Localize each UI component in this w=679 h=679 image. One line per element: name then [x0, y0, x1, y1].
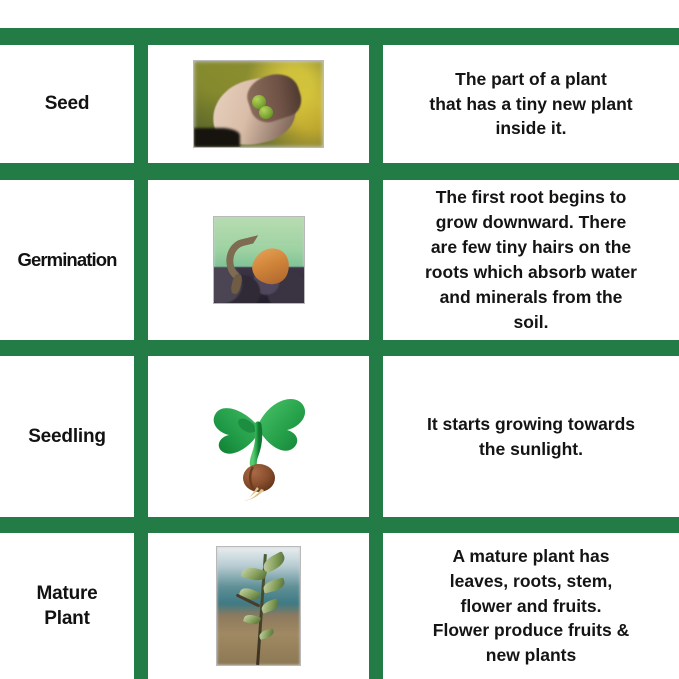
stage-cell-mature-plant: Mature Plant [0, 533, 134, 679]
table-row: Seedling [0, 356, 679, 517]
description-text: It starts growing towards the sunlight. [427, 412, 635, 462]
seedling-illustration [203, 373, 315, 501]
stage-label: Mature Plant [36, 581, 97, 631]
plant-life-cycle-table: Seed The part of a plant that has a tiny… [0, 0, 679, 679]
mature-plant-photo [216, 546, 301, 666]
stage-label: Germination [17, 248, 116, 272]
table-row: Germination The first root begins to gro… [0, 180, 679, 340]
table-row: Seed The part of a plant that has a tiny… [0, 45, 679, 163]
stage-label: Seed [45, 91, 90, 116]
description-text: A mature plant has leaves, roots, stem, … [433, 544, 629, 668]
grid-line-row-1 [0, 163, 679, 180]
seed-photo [193, 60, 324, 148]
table-row: Mature Plant A mature plant has leaves, … [0, 533, 679, 679]
stage-cell-germination: Germination [0, 180, 134, 340]
grid-line-top [0, 28, 679, 45]
grid-line-row-3 [0, 517, 679, 533]
stage-label: Seedling [28, 424, 106, 449]
seed-photo-sleeve [194, 128, 240, 147]
seed-photo-seed-2 [259, 106, 273, 119]
description-text: The first root begins to grow downward. … [425, 185, 637, 334]
germination-photo [213, 216, 305, 304]
image-cell-seedling [148, 356, 369, 517]
grid-line-row-2 [0, 340, 679, 356]
stage-cell-seedling: Seedling [0, 356, 134, 517]
description-cell-germination: The first root begins to grow downward. … [383, 180, 679, 340]
image-cell-seed [148, 45, 369, 163]
image-cell-germination [148, 180, 369, 340]
description-cell-seedling: It starts growing towards the sunlight. [383, 356, 679, 517]
image-cell-mature-plant [148, 533, 369, 679]
stage-cell-seed: Seed [0, 45, 134, 163]
description-cell-mature-plant: A mature plant has leaves, roots, stem, … [383, 533, 679, 679]
description-text: The part of a plant that has a tiny new … [429, 67, 632, 142]
description-cell-seed: The part of a plant that has a tiny new … [383, 45, 679, 163]
